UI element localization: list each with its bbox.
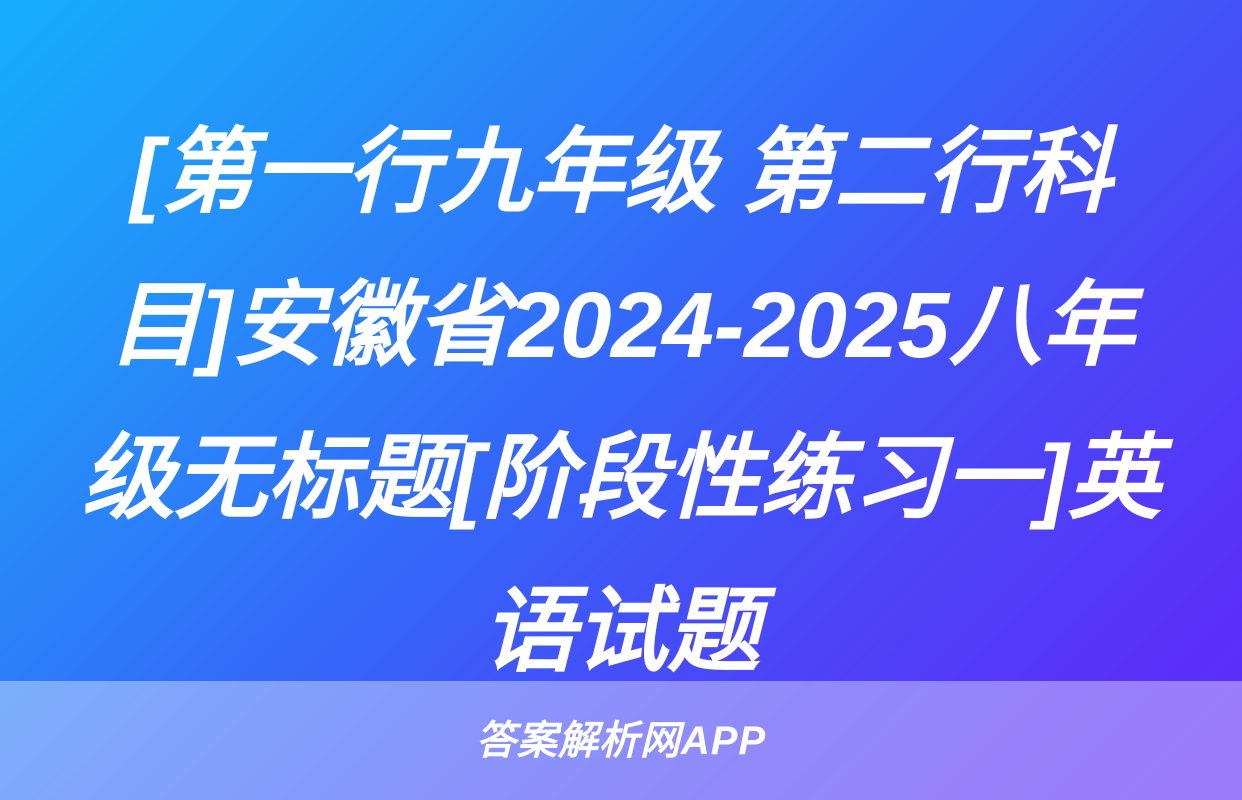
- watermark-label: 答案解析网APP: [476, 721, 766, 761]
- page-title: [第一行九年级 第二行科目]安徽省2024-2025八年级无标题[阶段性练习一]…: [78, 96, 1164, 708]
- watermark-band: 答案解析网APP: [0, 681, 1242, 800]
- exam-cover-poster: [第一行九年级 第二行科目]安徽省2024-2025八年级无标题[阶段性练习一]…: [0, 0, 1242, 800]
